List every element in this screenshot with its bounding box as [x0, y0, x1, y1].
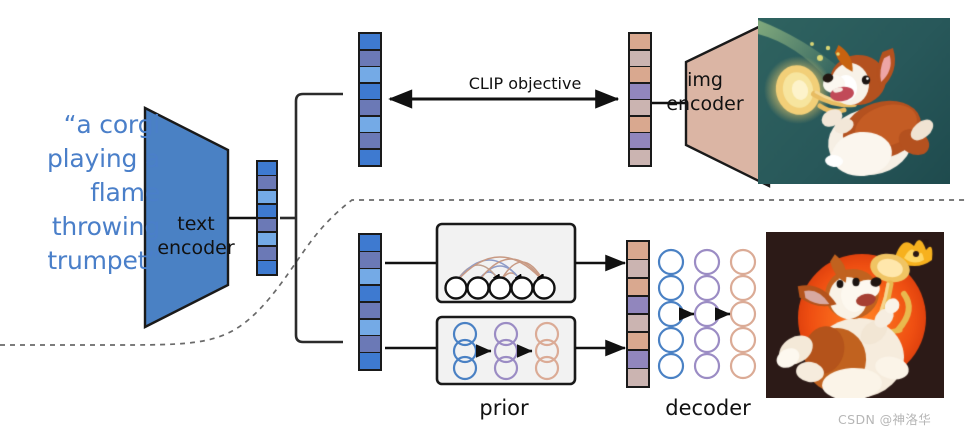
embedding-cell [360, 320, 379, 335]
embedding-cell [628, 279, 647, 296]
text-encoder-label: text encoder [148, 212, 244, 260]
embedding-cell [258, 191, 275, 204]
prior-caption: prior [440, 396, 568, 420]
clip-text-embedding-bar [358, 32, 382, 167]
diagram-canvas: “a corgi playing a flame throwing trumpe… [0, 0, 966, 434]
embedding-cell [628, 260, 647, 277]
embedding-cell [360, 34, 379, 49]
embedding-cell [630, 84, 649, 99]
embedding-cell [630, 34, 649, 49]
embedding-cell [360, 67, 379, 82]
embedding-cell [360, 150, 379, 165]
embedding-cell [630, 133, 649, 148]
clip-objective-label: CLIP objective [430, 74, 620, 93]
embedding-cell [630, 67, 649, 82]
bracket-split [296, 94, 343, 342]
embedding-cell [628, 242, 647, 259]
embedding-cell [360, 286, 379, 301]
embedding-cell [360, 51, 379, 66]
embedding-cell [630, 117, 649, 132]
embedding-cell [258, 261, 275, 274]
embedding-cell [630, 150, 649, 165]
embedding-cell [630, 100, 649, 115]
decoder-caption: decoder [640, 396, 776, 420]
watermark-label: CSDN @神洛华 [838, 409, 931, 428]
embedding-cell [360, 303, 379, 318]
embedding-cell [628, 333, 647, 350]
embedding-cell [258, 233, 275, 246]
clip-training-image [758, 18, 950, 184]
embedding-cell [360, 269, 379, 284]
embedding-cell [258, 247, 275, 260]
embedding-cell [360, 235, 379, 250]
embedding-cell [360, 133, 379, 148]
img-encoder-label: img encoder [662, 68, 748, 116]
embedding-cell [360, 353, 379, 368]
embedding-cell [360, 252, 379, 267]
embedding-cell [258, 176, 275, 189]
clip-image-embedding-bar [628, 32, 652, 167]
embedding-cell [628, 297, 647, 314]
embedding-cell [628, 369, 647, 386]
embedding-cell [630, 51, 649, 66]
embedding-cell [360, 84, 379, 99]
embedding-cell [258, 162, 275, 175]
decoder-network-nodes [659, 250, 755, 378]
decoder-output-image [766, 232, 944, 398]
embedding-cell [628, 351, 647, 368]
embedding-cell [258, 205, 275, 218]
embedding-cell [360, 100, 379, 115]
prompt-text: “a corgi playing a flame throwing trumpe… [8, 108, 160, 278]
embedding-cell [258, 219, 275, 232]
embedding-cell [628, 315, 647, 332]
embedding-cell [360, 336, 379, 351]
decoder-input-embedding-bar [626, 240, 650, 388]
autoregressive-prior-nodes [446, 278, 555, 299]
text-embedding-bar [256, 160, 278, 276]
embedding-cell [360, 117, 379, 132]
prior-input-embedding-bar [358, 233, 382, 371]
